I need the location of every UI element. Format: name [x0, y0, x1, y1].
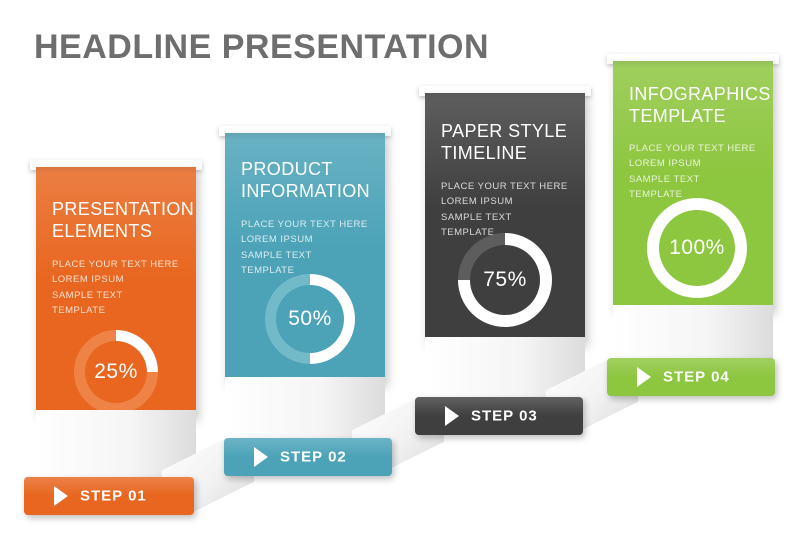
panel-body-3: PLACE YOUR TEXT HERE LOREM IPSUM SAMPLE … [441, 179, 575, 241]
panel-title-2: PRODUCT INFORMATION [241, 159, 375, 203]
donut-chart-25: 25% [74, 330, 158, 414]
panel-title-4-line2: TEMPLATE [629, 106, 763, 128]
panel-body-1-line2: LOREM IPSUM [52, 272, 186, 287]
panel-title-3-line1: PAPER STYLE [441, 121, 575, 143]
panel-body-4-line3: SAMPLE TEXT [629, 172, 763, 187]
donut-chart-75: 75% [458, 233, 552, 327]
panel-body-2-line2: LOREM IPSUM [241, 232, 375, 247]
panel-title-1-line1: PRESENTATION [52, 199, 186, 221]
step-ribbon-04[interactable]: STEP 04 [607, 358, 775, 396]
panel-body-4-line1: PLACE YOUR TEXT HERE [629, 141, 763, 156]
panel-body-3-line3: SAMPLE TEXT [441, 210, 575, 225]
panel-body-2-line1: PLACE YOUR TEXT HERE [241, 217, 375, 232]
step-label-02: STEP 02 [280, 449, 347, 466]
panel-paper-style-timeline[interactable]: PAPER STYLE TIMELINE PLACE YOUR TEXT HER… [425, 93, 585, 343]
play-triangle-icon [637, 367, 651, 387]
donut-label-50: 50% [265, 307, 355, 331]
play-triangle-icon [445, 406, 459, 426]
step-label-03: STEP 03 [471, 408, 538, 425]
panel-body-1: PLACE YOUR TEXT HERE LOREM IPSUM SAMPLE … [52, 257, 186, 319]
step-ribbon-03[interactable]: STEP 03 [415, 397, 583, 435]
panel-title-3: PAPER STYLE TIMELINE [441, 121, 575, 165]
panel-fold-1 [36, 167, 196, 174]
step-label-01: STEP 01 [80, 488, 147, 505]
panel-infographics-template[interactable]: INFOGRAPHICS TEMPLATE PLACE YOUR TEXT HE… [613, 61, 773, 311]
donut-chart-50: 50% [265, 274, 355, 364]
panel-fold-4 [613, 61, 773, 68]
panel-body-1-line4: TEMPLATE [52, 303, 186, 318]
play-triangle-icon [254, 447, 268, 467]
panel-body-4-line2: LOREM IPSUM [629, 156, 763, 171]
panel-body-2-line3: SAMPLE TEXT [241, 248, 375, 263]
panel-title-1-line2: ELEMENTS [52, 221, 186, 243]
panel-product-information[interactable]: PRODUCT INFORMATION PLACE YOUR TEXT HERE… [225, 133, 385, 383]
step-label-04: STEP 04 [663, 369, 730, 386]
panel-body-1-line1: PLACE YOUR TEXT HERE [52, 257, 186, 272]
panel-body-4: PLACE YOUR TEXT HERE LOREM IPSUM SAMPLE … [629, 141, 763, 203]
panel-fold-2 [225, 133, 385, 140]
panel-fold-3 [425, 93, 585, 100]
donut-label-25: 25% [74, 360, 158, 384]
step-ribbon-02[interactable]: STEP 02 [224, 438, 392, 476]
panel-body-1-line3: SAMPLE TEXT [52, 288, 186, 303]
play-triangle-icon [54, 486, 68, 506]
panel-title-4-line1: INFOGRAPHICS [629, 84, 763, 106]
panel-body-2: PLACE YOUR TEXT HERE LOREM IPSUM SAMPLE … [241, 217, 375, 279]
panel-title-4: INFOGRAPHICS TEMPLATE [629, 84, 763, 128]
panel-title-2-line2: INFORMATION [241, 181, 375, 203]
donut-label-100: 100% [647, 236, 747, 260]
panel-title-1: PRESENTATION ELEMENTS [52, 199, 186, 243]
donut-chart-100: 100% [647, 198, 747, 298]
donut-label-75: 75% [458, 268, 552, 292]
panel-presentation-elements[interactable]: PRESENTATION ELEMENTS PLACE YOUR TEXT HE… [36, 167, 196, 417]
panel-title-3-line2: TIMELINE [441, 143, 575, 165]
page-title: HEADLINE PRESENTATION [34, 28, 489, 67]
panel-title-2-line1: PRODUCT [241, 159, 375, 181]
panel-body-3-line1: PLACE YOUR TEXT HERE [441, 179, 575, 194]
step-ribbon-01[interactable]: STEP 01 [24, 477, 194, 515]
panel-body-3-line2: LOREM IPSUM [441, 194, 575, 209]
infographic-canvas: HEADLINE PRESENTATION PRESENTATION ELEME… [0, 0, 800, 543]
